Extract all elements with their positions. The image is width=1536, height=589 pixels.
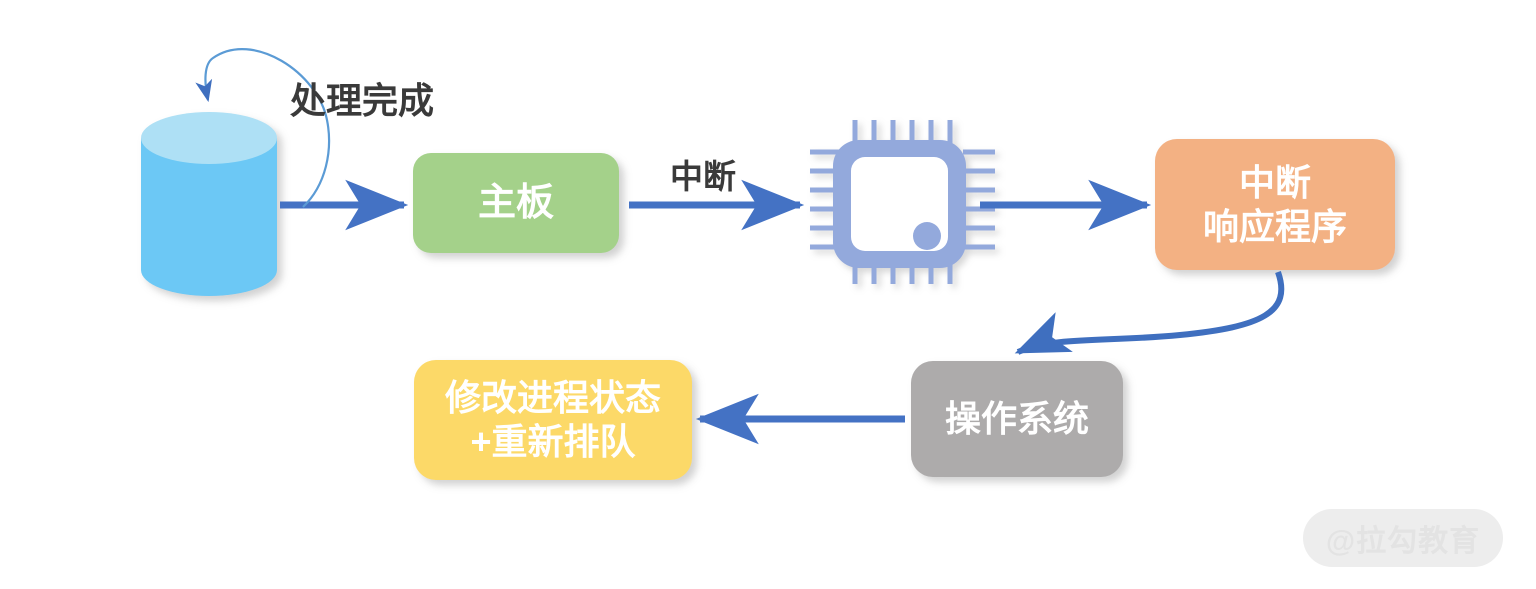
diagram-canvas: 主板 中断 响应程序 操作系统 修改进程状态 +重新排队 处理完成 中断 @拉勾… bbox=[0, 0, 1536, 589]
edge-label-interrupt: 中断 bbox=[670, 150, 736, 198]
edge-label-done: 处理完成 bbox=[290, 72, 434, 124]
cpu-chip-icon[interactable] bbox=[810, 120, 995, 284]
diagram-svg bbox=[0, 0, 1536, 589]
node-motherboard-box[interactable] bbox=[413, 153, 619, 253]
edge-isr-to-os bbox=[1018, 272, 1281, 352]
watermark-pill bbox=[1303, 509, 1503, 567]
node-os-box[interactable] bbox=[911, 361, 1123, 477]
node-modify-box[interactable] bbox=[414, 360, 692, 480]
node-isr-box[interactable] bbox=[1155, 139, 1395, 270]
node-queue-cylinder[interactable] bbox=[141, 112, 277, 296]
